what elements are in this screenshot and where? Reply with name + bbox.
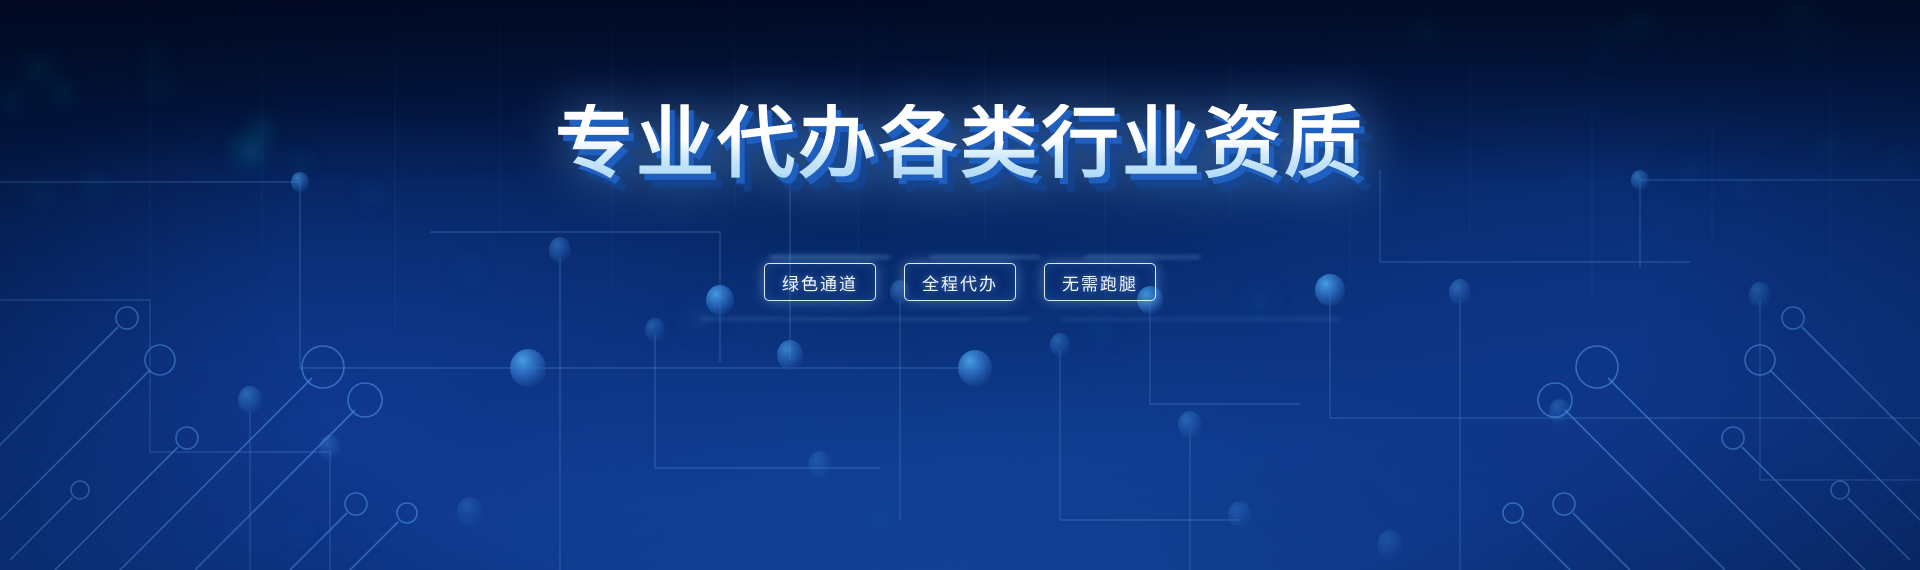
- badge-no-running-around[interactable]: 无需跑腿: [1044, 263, 1156, 301]
- banner-content: 专业代办各类行业资质 绿色通道 全程代办 无需跑腿: [0, 0, 1920, 570]
- banner-title: 专业代办各类行业资质: [0, 104, 1920, 182]
- hero-banner: 专业代办各类行业资质 绿色通道 全程代办 无需跑腿: [0, 0, 1920, 570]
- badge-full-service[interactable]: 全程代办: [904, 263, 1016, 301]
- badge-green-channel[interactable]: 绿色通道: [764, 263, 876, 301]
- badge-row: 绿色通道 全程代办 无需跑腿: [0, 263, 1920, 301]
